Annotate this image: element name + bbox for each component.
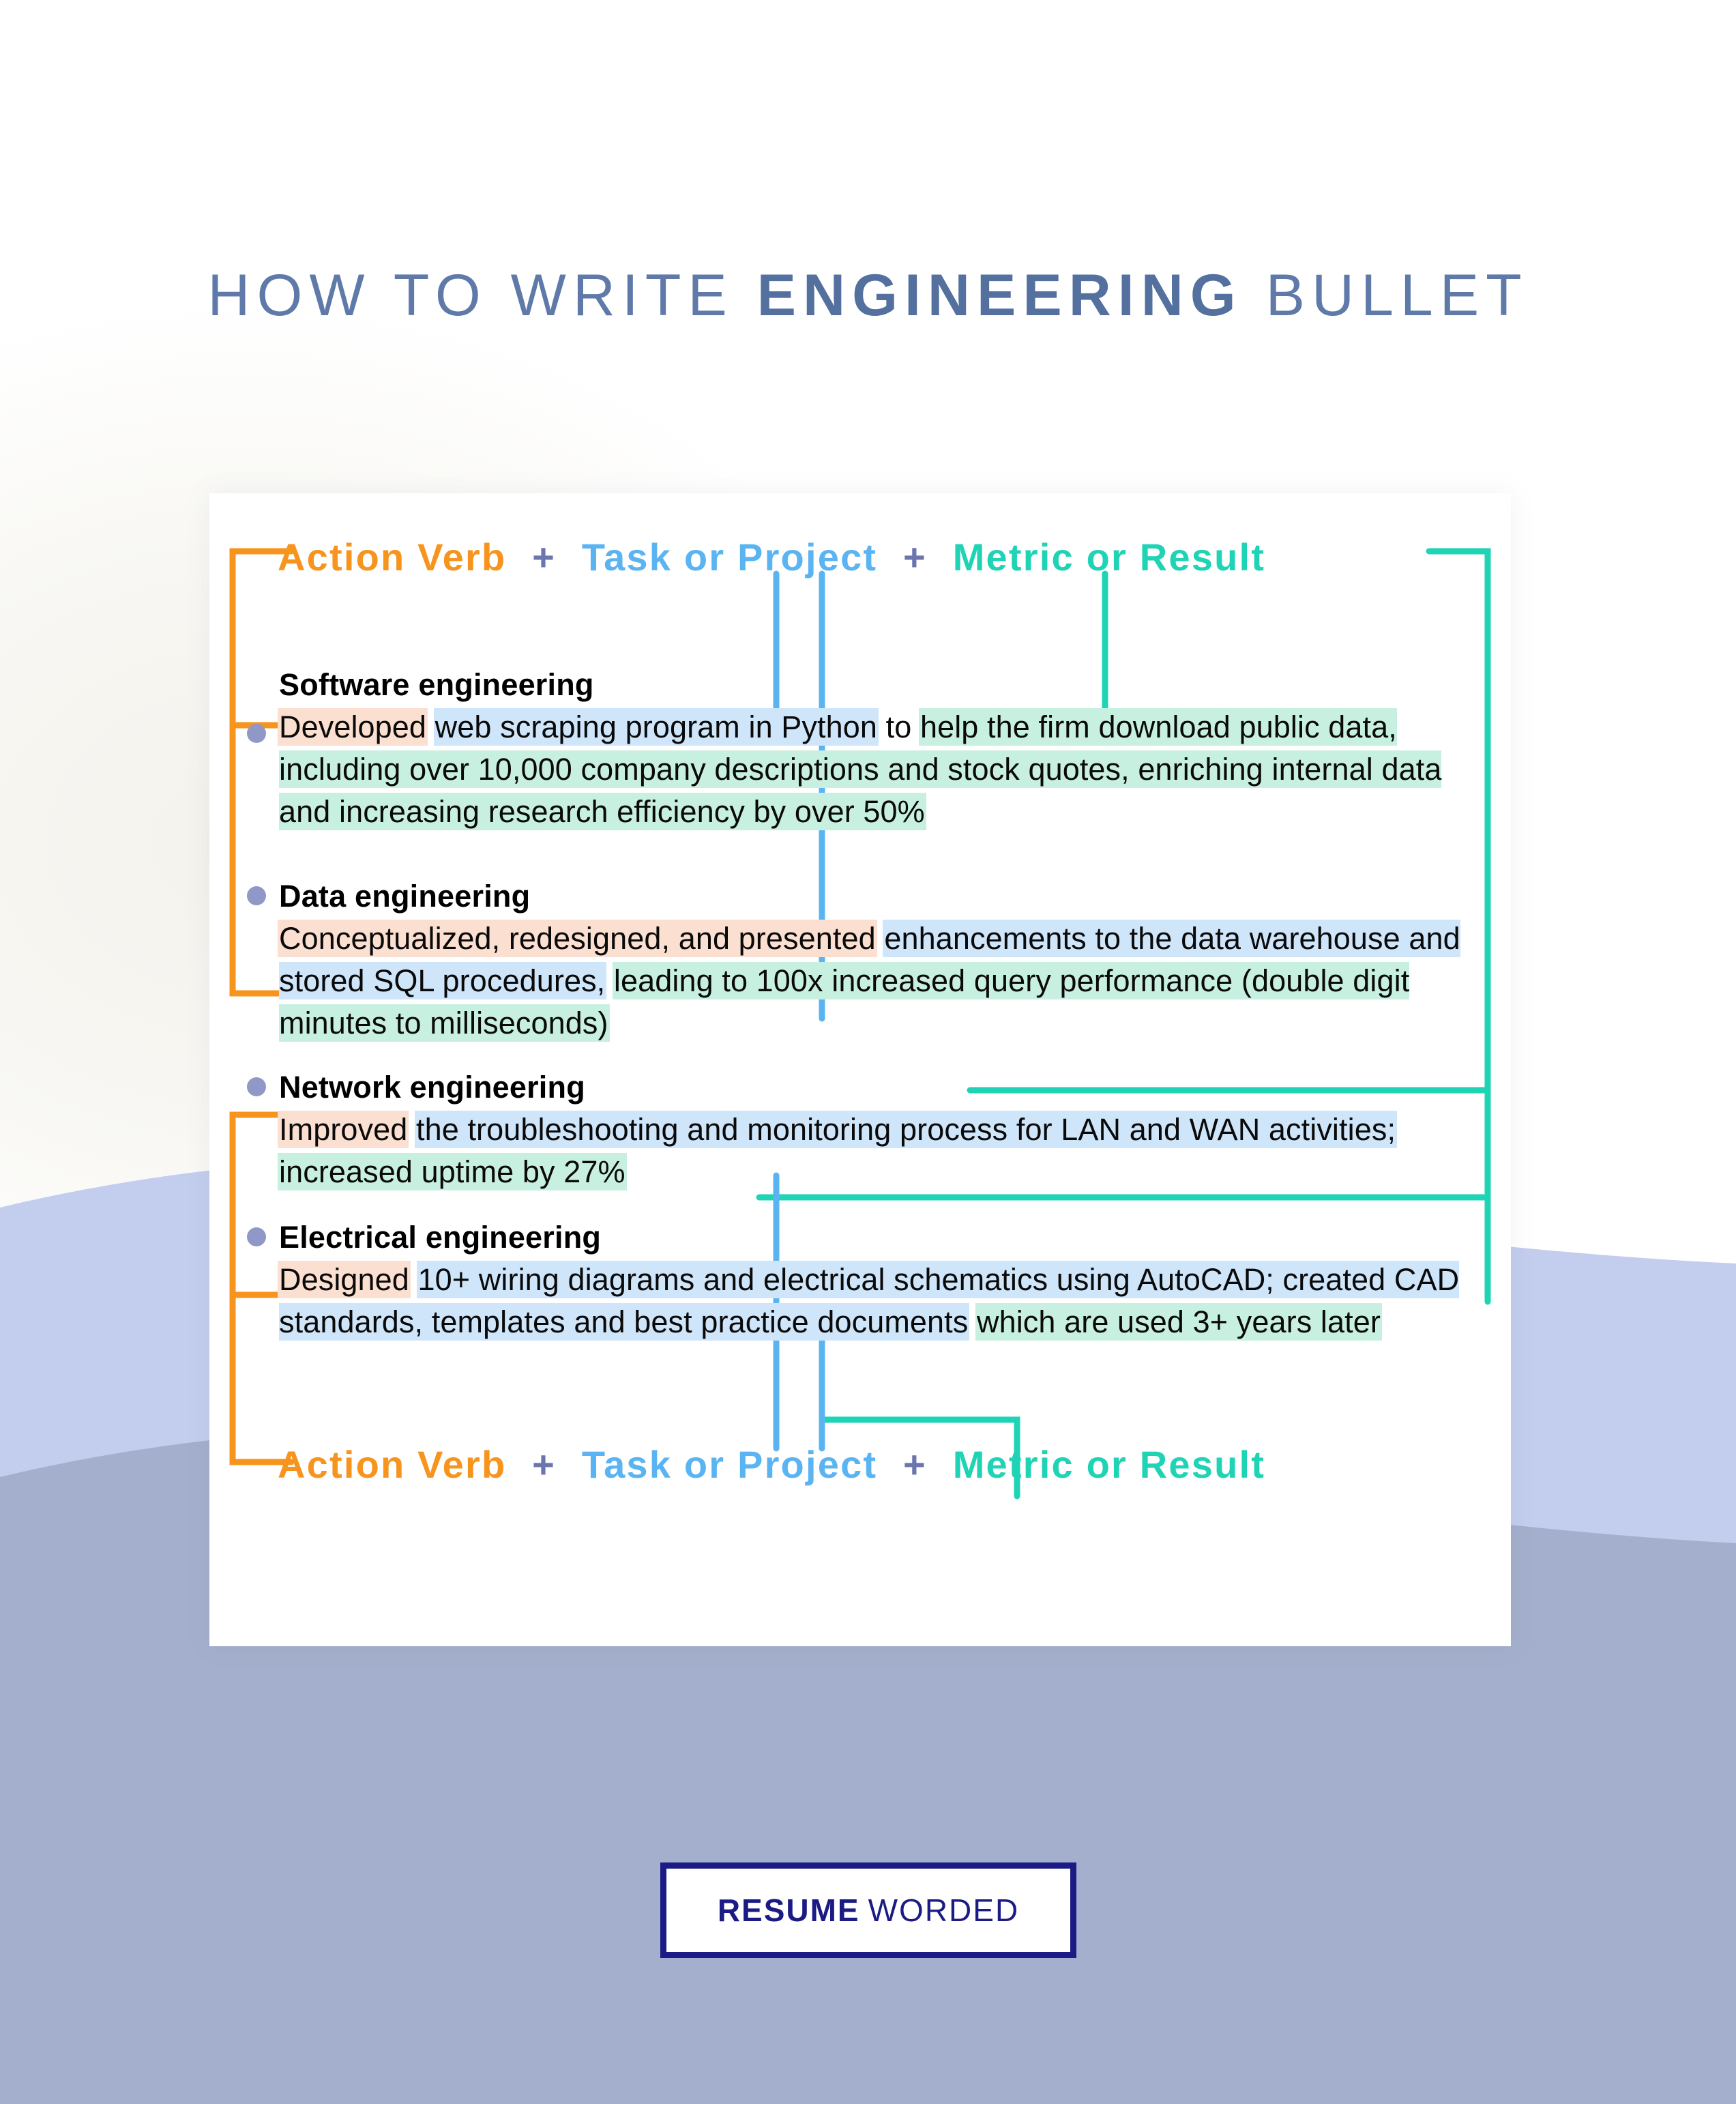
highlight-task: web scraping program in Python bbox=[435, 710, 877, 744]
group-heading: Software engineering bbox=[279, 664, 1475, 706]
legend-plus-2: + bbox=[889, 1443, 941, 1486]
highlight-verb: Improved bbox=[279, 1112, 407, 1147]
title-post: BULLET bbox=[1243, 263, 1529, 328]
group-heading: Electrical engineering bbox=[279, 1216, 1475, 1259]
bullet-group-data: Data engineering Conceptualized, redesig… bbox=[247, 875, 1475, 1044]
logo-text-light: WORDED bbox=[868, 1892, 1020, 1929]
legend-row-bottom: Action Verb + Task or Project + Metric o… bbox=[278, 1446, 1265, 1484]
highlight-verb: Conceptualized, redesigned, and presente… bbox=[279, 921, 876, 956]
resume-worded-logo[interactable]: RESUME WORDED bbox=[660, 1862, 1076, 1958]
title-pre: HOW TO WRITE bbox=[207, 263, 756, 328]
bullet-group-electrical: Electrical engineering Designed 10+ wiri… bbox=[247, 1216, 1475, 1343]
bullet-group-network: Network engineering Improved the trouble… bbox=[247, 1066, 1475, 1193]
bullet-text: Conceptualized, redesigned, and presente… bbox=[279, 918, 1466, 1044]
group-heading: Network engineering bbox=[279, 1066, 1475, 1109]
highlight-task: the troubleshooting and monitoring proce… bbox=[416, 1112, 1396, 1147]
highlight-metric: which are used 3+ years later bbox=[977, 1304, 1381, 1339]
bullet-text: Designed 10+ wiring diagrams and electri… bbox=[279, 1259, 1466, 1343]
legend-task-or-project: Task or Project bbox=[582, 536, 877, 579]
bullet-text: Improved the troubleshooting and monitor… bbox=[279, 1109, 1466, 1193]
legend-row-top: Action Verb + Task or Project + Metric o… bbox=[278, 538, 1265, 576]
highlight-verb: Developed bbox=[279, 710, 426, 744]
legend-metric-or-result: Metric or Result bbox=[953, 536, 1265, 579]
legend-task-or-project: Task or Project bbox=[582, 1443, 877, 1486]
legend-metric-or-result: Metric or Result bbox=[953, 1443, 1265, 1486]
legend-action-verb: Action Verb bbox=[278, 536, 506, 579]
bullet-dot-icon bbox=[247, 724, 266, 743]
bullet-text: Developed web scraping program in Python… bbox=[279, 706, 1466, 833]
title-line-1: HOW TO WRITE ENGINEERING BULLET bbox=[207, 263, 1528, 328]
group-heading: Data engineering bbox=[279, 875, 1475, 918]
legend-plus-2: + bbox=[889, 536, 941, 579]
highlight-metric: increased uptime by 27% bbox=[279, 1154, 626, 1189]
bullet-formula-card: Action Verb + Task or Project + Metric o… bbox=[209, 493, 1511, 1646]
bullet-group-software: Software engineering Developed web scrap… bbox=[247, 664, 1475, 833]
legend-plus-1: + bbox=[518, 1443, 570, 1486]
bullet-dot-icon bbox=[247, 1077, 266, 1096]
title-emphasis: ENGINEERING bbox=[757, 263, 1243, 328]
highlight-verb: Designed bbox=[279, 1262, 409, 1297]
bullet-dot-icon bbox=[247, 1227, 266, 1246]
legend-plus-1: + bbox=[518, 536, 570, 579]
legend-action-verb: Action Verb bbox=[278, 1443, 506, 1486]
bullet-dot-icon bbox=[247, 886, 266, 905]
logo-text-bold: RESUME bbox=[718, 1892, 860, 1929]
